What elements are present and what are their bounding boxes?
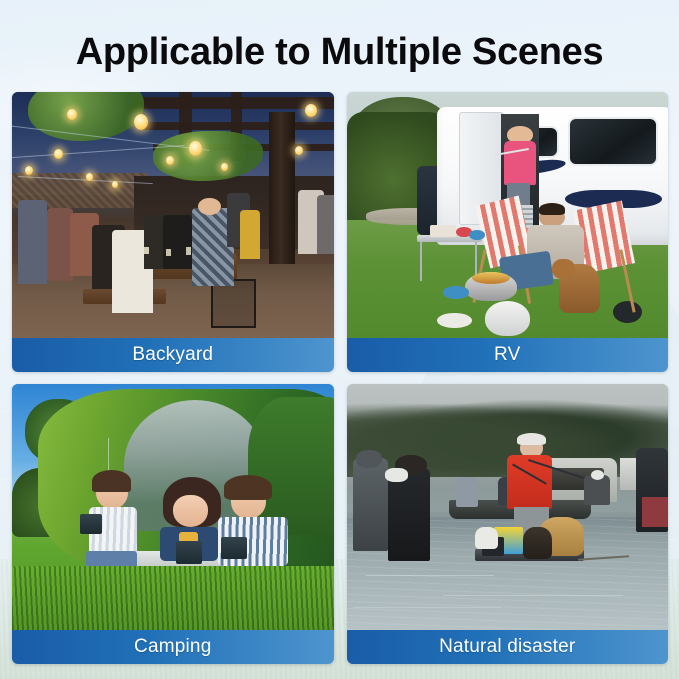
person-head [198, 198, 221, 215]
string-light-bulb [112, 181, 118, 188]
card-caption-backyard: Backyard [12, 338, 334, 372]
dog-dark [523, 527, 552, 559]
water-ripple [443, 595, 623, 596]
card-caption-camping: Camping [12, 630, 334, 664]
person-skirt [642, 497, 668, 527]
page-background: Applicable to Multiple Scenes [0, 0, 679, 679]
string-light-bulb [67, 109, 77, 120]
scene-image-backyard [12, 92, 334, 338]
water-ripple [366, 575, 495, 576]
scene-card-natural-disaster[interactable]: Natural disaster [347, 384, 669, 664]
grass-foreground [12, 566, 334, 630]
carried-bundle [385, 468, 408, 483]
string-light-bulb [189, 141, 202, 156]
card-caption-rv: RV [347, 338, 669, 372]
metal-chair [211, 279, 256, 328]
person [18, 200, 47, 284]
grill-lid [485, 301, 530, 335]
plate [437, 313, 472, 328]
dog-head [552, 259, 575, 279]
person-raincoat [353, 458, 388, 551]
person [317, 195, 333, 254]
page-title: Applicable to Multiple Scenes [0, 32, 679, 74]
person-hood [356, 450, 382, 467]
grilled-food [472, 272, 511, 284]
child-hair [92, 470, 131, 492]
scene-card-camping[interactable]: Camping [12, 384, 334, 664]
string-light-bulb [305, 104, 317, 117]
person-cap [591, 470, 604, 480]
bowl-blue [443, 286, 469, 298]
woman-face-front [173, 495, 208, 527]
scene-image-rv [347, 92, 669, 338]
camp-mug [80, 514, 103, 534]
drink-glass [166, 249, 171, 256]
man-grey-hair [517, 433, 546, 445]
scene-card-grid: Backyard [12, 92, 668, 664]
scene-image-natural-disaster [347, 384, 669, 630]
camp-mug [176, 541, 202, 563]
camp-mug [221, 537, 247, 559]
rv-window-rear [568, 117, 658, 166]
string-light-bulb [54, 149, 63, 159]
string-light-bulb [295, 146, 303, 155]
drink-glass [186, 247, 191, 255]
person-hair [539, 203, 565, 215]
food-container [430, 225, 456, 237]
person-pink-jacket [504, 141, 536, 185]
person [163, 215, 192, 269]
card-caption-natural-disaster: Natural disaster [347, 630, 669, 664]
water-ripple [353, 607, 501, 608]
scene-image-camping [12, 384, 334, 630]
person-background [456, 477, 479, 507]
person-yellow-skirt [240, 210, 259, 259]
scene-card-rv[interactable]: RV [347, 92, 669, 372]
table-leg [420, 242, 422, 281]
dog-white [475, 527, 498, 549]
scene-card-backyard[interactable]: Backyard [12, 92, 334, 372]
man-hair [224, 475, 272, 500]
bowl-blue [469, 230, 485, 240]
string-light-bulb [25, 166, 33, 175]
drink-glass [144, 247, 149, 254]
